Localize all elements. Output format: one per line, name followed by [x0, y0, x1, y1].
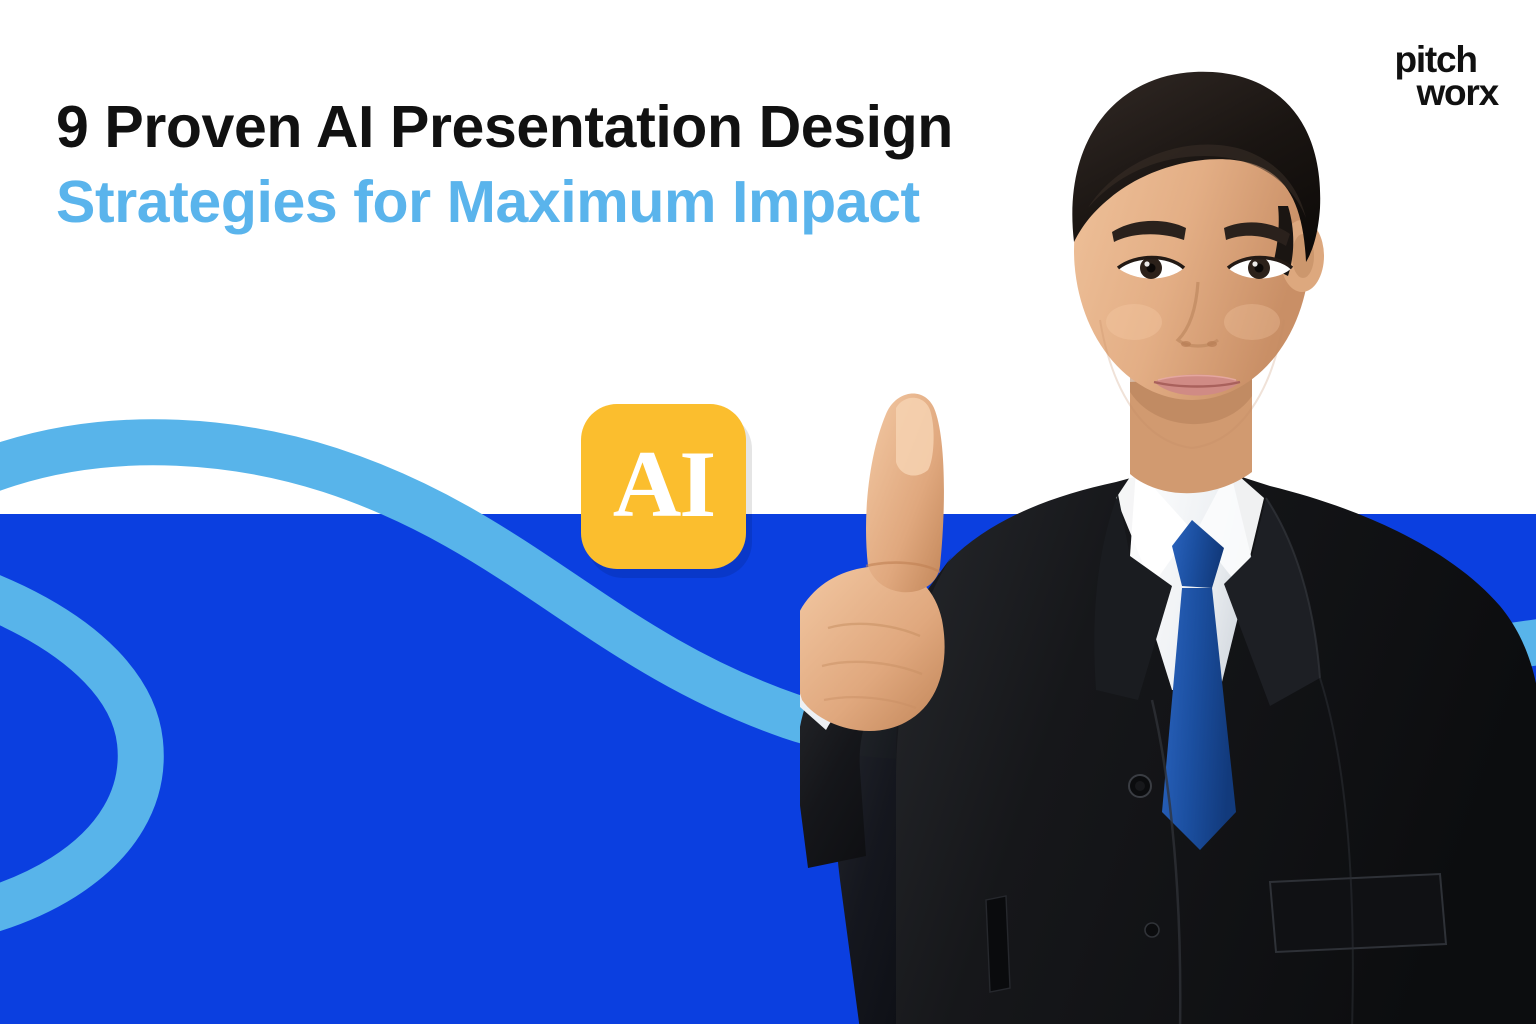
businessman-thumbs-up-photo: [800, 0, 1536, 1024]
ai-badge: AI: [581, 404, 746, 569]
ai-badge-label: AI: [613, 437, 715, 532]
fist: [800, 566, 945, 731]
blog-header-banner: 9 Proven AI Presentation Design Strategi…: [0, 0, 1536, 1024]
